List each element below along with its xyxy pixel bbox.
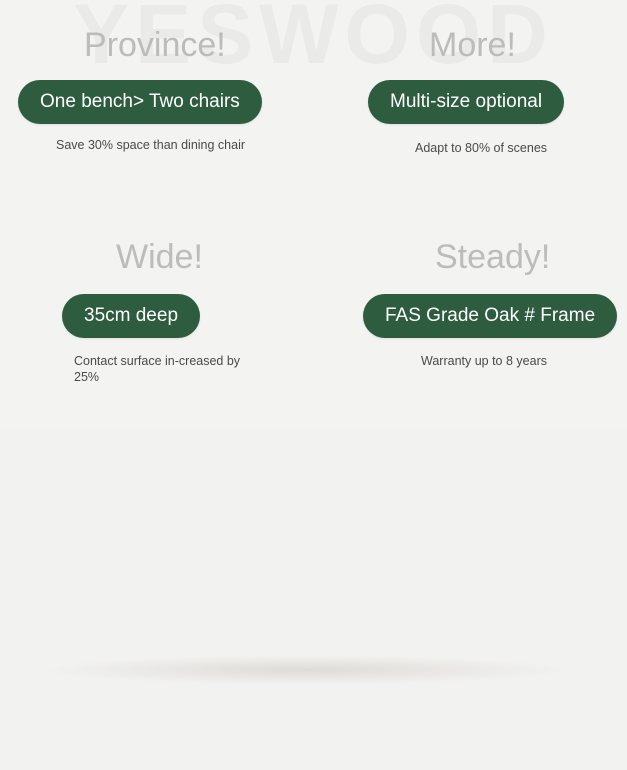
feature-pill: FAS Grade Oak # Frame — [363, 294, 617, 338]
feature-headline: Steady! — [435, 240, 617, 274]
feature-headline: More! — [429, 28, 564, 62]
feature-subtext: Save 30% space than dining chair — [56, 137, 246, 153]
feature-province: Province! One bench> Two chairs Save 30%… — [18, 28, 262, 153]
feature-headline: Province! — [84, 28, 262, 62]
photo-background — [0, 430, 627, 770]
feature-more: More! Multi-size optional Adapt to 80% o… — [363, 28, 564, 156]
product-photo — [0, 430, 627, 770]
feature-headline: Wide! — [116, 240, 264, 274]
feature-pill: Multi-size optional — [368, 80, 564, 124]
feature-subtext: Adapt to 80% of scenes — [415, 140, 564, 156]
floor-shadow — [40, 655, 570, 685]
feature-steady: Steady! FAS Grade Oak # Frame Warranty u… — [363, 240, 617, 369]
feature-subtext: Contact surface in-creased by 25% — [74, 353, 264, 386]
promo-page: YESWOOD Province! One bench> Two chairs … — [0, 0, 627, 770]
feature-wide: Wide! 35cm deep Contact surface in-creas… — [62, 240, 264, 385]
feature-subtext: Warranty up to 8 years — [421, 353, 611, 369]
feature-pill: One bench> Two chairs — [18, 80, 262, 124]
feature-pill: 35cm deep — [62, 294, 200, 338]
